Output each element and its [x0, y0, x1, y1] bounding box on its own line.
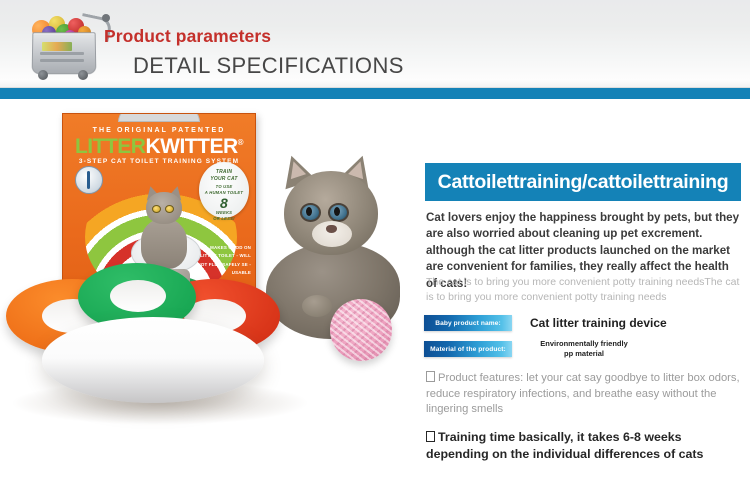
cart-handle-knob [102, 14, 110, 22]
kitten-pupil-right [334, 207, 340, 216]
box-promise-badge: TRAIN YOUR CAT TO USE A HUMAN TOILET 8 W… [199, 162, 249, 218]
badge-weeks-number: 8 [199, 196, 249, 210]
bullet-glyph-icon [426, 371, 435, 382]
features-paragraph: Product features: let your cat say goodb… [426, 371, 744, 418]
box-cat-photo [137, 192, 191, 268]
badge-line-1: TRAIN [199, 169, 249, 176]
header-accent-bar [0, 88, 750, 99]
cart-basket-slot [40, 52, 84, 55]
box-kicker-text: THE ORIGINAL PATENTED [63, 127, 255, 134]
spec-row: Baby product name: Cat litter training d… [424, 315, 667, 331]
product-title-banner: Cattoilettraining/cattoilettraining [425, 163, 741, 201]
bullet-glyph-icon [426, 431, 435, 442]
cart-wheel [78, 70, 88, 80]
badge-line-2: YOUR CAT [199, 176, 249, 183]
box-cat-body [141, 219, 187, 269]
product-title-text: Cattoilettraining/cattoilettraining [438, 171, 729, 194]
green-ring-hole [110, 280, 166, 312]
page-header: Product parameters DETAIL SPECIFICATIONS [0, 0, 750, 88]
product-detail-page: Product parameters DETAIL SPECIFICATIONS… [0, 0, 750, 494]
box-top-flap [118, 113, 200, 122]
product-details-column: Cattoilettraining/cattoilettraining Cat … [424, 99, 744, 494]
shopping-cart-icon [18, 6, 110, 84]
training-text: Training time basically, it takes 6-8 we… [426, 430, 703, 461]
box-brand-text: LITTERKWITTER® [63, 136, 255, 157]
spec-label-product-name: Baby product name: [424, 315, 512, 331]
sub-paragraph: The cat is to bring you more convenient … [426, 275, 742, 305]
spec-row: Material of the product: Environmentally… [424, 339, 630, 359]
kitten-pupil-left [306, 207, 312, 216]
kitten-photo [262, 147, 412, 347]
cart-wheel [38, 70, 48, 80]
box-cat-eye-left [152, 205, 161, 213]
spec-value-product-name: Cat litter training device [530, 316, 667, 330]
page-title-grey: DETAIL SPECIFICATIONS [133, 53, 404, 79]
box-side-text: MAKES GOOD ON LITTER TOILET - WILL NOT F… [193, 244, 251, 277]
box-seal-icon [75, 166, 103, 194]
cart-basket-label [42, 42, 72, 51]
cart-basket-slot [40, 59, 84, 62]
spec-value-material: Environmentally friendly pp material [538, 339, 630, 359]
white-base-disc [42, 317, 264, 403]
pink-yarn-ball [330, 299, 392, 361]
features-text: Product features: let your cat say goodb… [426, 372, 740, 415]
box-brand-registered: ® [238, 138, 243, 147]
badge-line-6: OR LESS! [199, 216, 249, 222]
training-paragraph: Training time basically, it takes 6-8 we… [426, 429, 744, 463]
box-brand-kwitter: KWITTER [145, 135, 237, 158]
box-cat-eye-right [165, 205, 174, 213]
product-photo: THE ORIGINAL PATENTED LITTERKWITTER® 3-S… [0, 99, 420, 494]
kitten-nose [326, 225, 337, 233]
box-brand-litter: LITTER [75, 135, 146, 158]
page-title-red: Product parameters [104, 26, 271, 47]
kitten-paw-left [302, 295, 332, 317]
spec-label-material: Material of the product: [424, 341, 512, 357]
